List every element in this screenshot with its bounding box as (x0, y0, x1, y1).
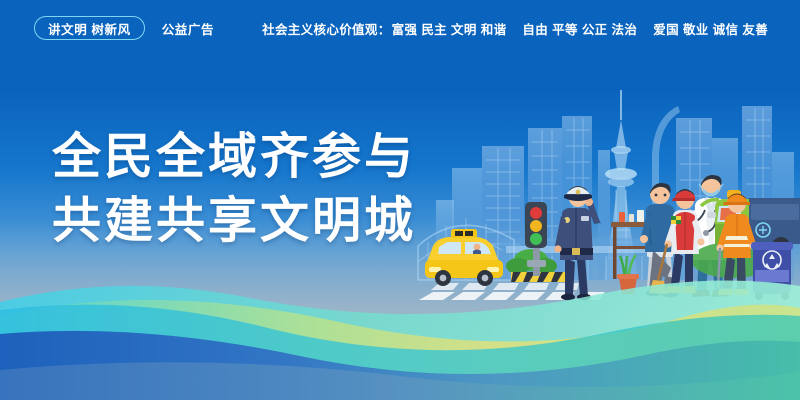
core-value-word: 公正 (582, 23, 608, 37)
core-value-word: 法治 (612, 23, 638, 37)
core-value-word: 文明 (451, 23, 477, 37)
core-value-word: 富强 (392, 23, 418, 37)
public-service-ad-label: 公益广告 (162, 19, 214, 38)
top-banner: 讲文明 树新风 公益广告 社会主义核心价值观：富强民主文明和谐自由平等公正法治爱… (0, 0, 800, 56)
core-values-group: 自由平等公正法治 (522, 23, 641, 37)
core-value-word: 爱国 (653, 23, 679, 37)
core-value-word: 和谐 (481, 23, 507, 37)
core-values-strip: 社会主义核心价值观：富强民主文明和谐自由平等公正法治爱国敬业诚信友善 (262, 19, 779, 38)
poster-canvas: 全民全域齐参与 共建共享文明城 讲文明 树新风 公益广告 社会主义核心价值观：富… (0, 0, 800, 400)
core-value-word: 民主 (421, 23, 447, 37)
page-title: 全民全域齐参与 共建共享文明城 (52, 128, 416, 250)
core-values-group: 爱国敬业诚信友善 (653, 23, 772, 37)
core-value-word: 敬业 (683, 23, 709, 37)
core-values-label: 社会主义核心价值观： (262, 23, 391, 37)
decorative-waves (0, 260, 800, 400)
core-values-group: 富强民主文明和谐 (392, 23, 511, 37)
core-value-word: 诚信 (713, 23, 739, 37)
headline-line-2: 共建共享文明城 (52, 192, 416, 250)
core-value-word: 自由 (522, 23, 548, 37)
core-value-word: 平等 (552, 23, 578, 37)
headline-line-1: 全民全域齐参与 (52, 128, 416, 186)
campaign-badge[interactable]: 讲文明 树新风 (34, 16, 145, 40)
core-values-words: 富强民主文明和谐自由平等公正法治爱国敬业诚信友善 (392, 23, 779, 37)
core-value-word: 友善 (742, 23, 768, 37)
